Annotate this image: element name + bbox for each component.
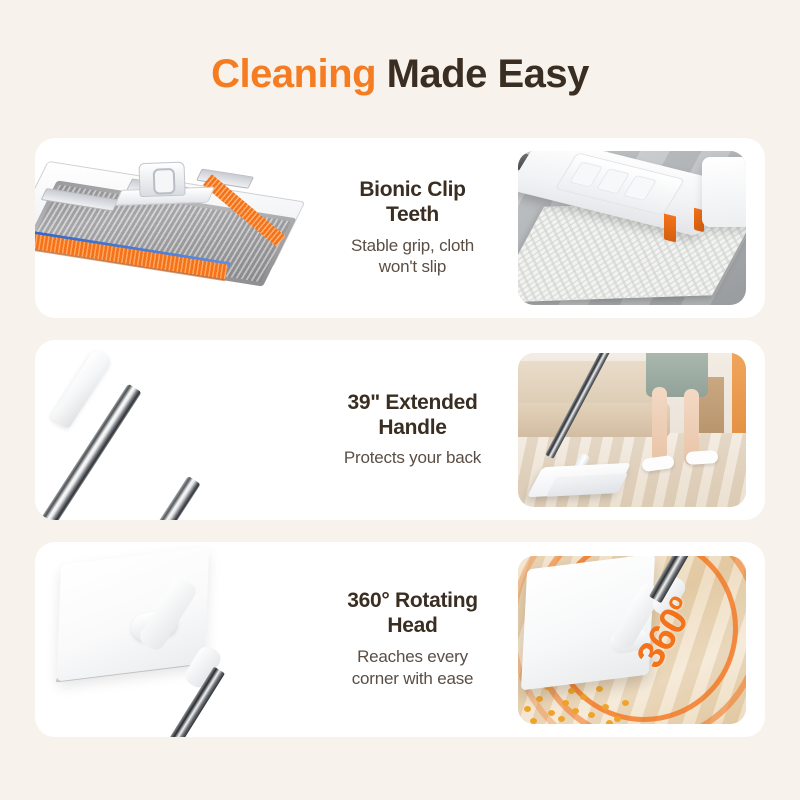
feature-title-line1: 39" Extended — [313, 391, 512, 416]
feature-subtitle: Stable grip, cloth won't slip — [313, 235, 512, 279]
debris-particle — [602, 704, 609, 710]
debris-particle — [572, 708, 579, 714]
product-image-mop-head — [35, 138, 307, 318]
debris-particle — [536, 696, 543, 702]
debris-particle — [596, 686, 603, 692]
debris-particle — [530, 718, 537, 724]
feature-title-line2: Head — [313, 614, 512, 639]
person-leg — [652, 387, 667, 461]
debris-particle — [548, 710, 555, 716]
feature-subtitle-line2: won't slip — [313, 256, 512, 278]
feature-subtitle-line2: corner with ease — [313, 668, 512, 690]
debris-particle — [614, 716, 621, 722]
debris-particle — [524, 706, 531, 712]
chrome-pole-upper — [35, 384, 142, 520]
feature-title: Bionic Clip Teeth — [313, 178, 512, 228]
feature-photo-360-rotation: 360º — [518, 556, 746, 724]
feature-photo-clip-grip — [518, 151, 746, 305]
feature-card-rotating-head[interactable]: 360° Rotating Head Reaches every corner … — [35, 542, 765, 737]
mop-head-end-block — [702, 157, 746, 227]
debris-particle — [588, 712, 595, 718]
handle-grip — [50, 347, 114, 429]
chrome-pole-lower — [96, 476, 201, 520]
feature-card-list: Bionic Clip Teeth Stable grip, cloth won… — [35, 138, 765, 759]
feature-card-extended-handle[interactable]: 39" Extended Handle Protects your back — [35, 340, 765, 520]
feature-text-bionic-clip-teeth: Bionic Clip Teeth Stable grip, cloth won… — [307, 178, 518, 278]
handle-illustration — [35, 340, 307, 520]
feature-title-line1: 360° Rotating — [313, 589, 512, 614]
feature-subtitle: Protects your back — [313, 447, 512, 469]
slipper — [686, 450, 719, 465]
debris-particle — [622, 700, 629, 706]
rotating-head-illustration — [35, 542, 307, 737]
feature-title-line2: Teeth — [313, 203, 512, 228]
feature-subtitle: Reaches every corner with ease — [313, 646, 512, 690]
feature-card-bionic-clip-teeth[interactable]: Bionic Clip Teeth Stable grip, cloth won… — [35, 138, 765, 318]
page-title-main: Made Easy — [376, 52, 589, 96]
mop-plate — [57, 547, 209, 682]
debris-particle — [558, 716, 565, 722]
feature-title: 39" Extended Handle — [313, 391, 512, 441]
debris-particle — [606, 720, 613, 724]
feature-title-line1: Bionic Clip — [313, 178, 512, 203]
product-image-handle — [35, 340, 307, 520]
feature-photo-mopping-room — [518, 353, 746, 507]
feature-text-rotating-head: 360° Rotating Head Reaches every corner … — [307, 589, 518, 689]
feature-text-extended-handle: 39" Extended Handle Protects your back — [307, 391, 518, 469]
sofa-seat — [518, 403, 670, 437]
feature-subtitle-line1: Protects your back — [313, 447, 512, 469]
debris-particle — [568, 688, 575, 694]
page-title-accent: Cleaning — [211, 52, 376, 96]
feature-title: 360° Rotating Head — [313, 589, 512, 639]
feature-subtitle-line1: Stable grip, cloth — [313, 235, 512, 257]
product-image-rotating-head — [35, 542, 307, 737]
feature-title-line2: Handle — [313, 416, 512, 441]
feature-subtitle-line1: Reaches every — [313, 646, 512, 668]
mop-head-illustration — [35, 155, 307, 315]
debris-particle — [562, 700, 569, 706]
debris-particle — [580, 694, 587, 700]
page-title: Cleaning Made Easy — [0, 0, 800, 96]
orange-clip-tab — [664, 214, 676, 243]
swivel-bracket-icon — [138, 162, 185, 198]
